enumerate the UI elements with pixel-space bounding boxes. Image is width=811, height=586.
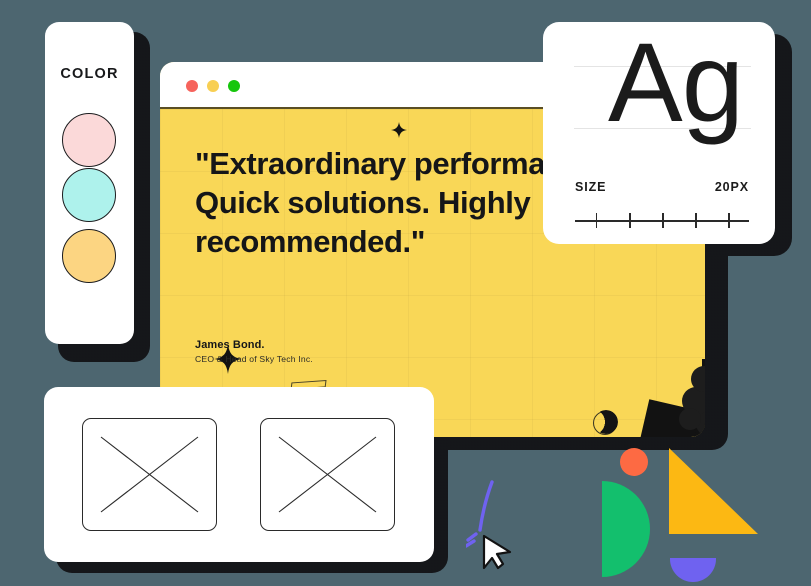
ruler-tick [596, 213, 598, 228]
pink-swatch[interactable] [62, 113, 116, 167]
cursor-arrow-icon [466, 478, 526, 570]
yellow-triangle-shape [669, 448, 758, 534]
font-specimen: Ag [608, 27, 743, 139]
sparkle-icon [391, 122, 407, 138]
color-palette-card: COLOR [45, 22, 134, 344]
author-name: James Bond. [195, 339, 313, 351]
green-semicircle-shape [602, 481, 650, 577]
image-placeholder-1[interactable] [82, 418, 217, 531]
cyan-swatch[interactable] [62, 168, 116, 222]
size-row: SIZE 20PX [575, 180, 749, 194]
wireframe-card [44, 387, 434, 562]
ruler-tick [629, 213, 631, 228]
minimize-dot[interactable] [207, 80, 219, 92]
portrait-collage [630, 359, 705, 437]
portrait-photo [670, 361, 705, 437]
purple-semicircle-shape [670, 558, 716, 582]
image-placeholder-2[interactable] [260, 418, 395, 531]
orange-circle-shape [620, 448, 648, 476]
crescent-moon-icon [593, 411, 617, 435]
ruler-tick [695, 213, 697, 228]
testimonial-author: James Bond. CEO & Head of Sky Tech Inc. [195, 339, 313, 364]
decorative-shapes-group [466, 440, 806, 586]
amber-swatch[interactable] [62, 229, 116, 283]
typography-card: Ag SIZE 20PX [543, 22, 775, 244]
close-dot[interactable] [186, 80, 198, 92]
size-label: SIZE [575, 180, 606, 194]
ruler-tick [662, 213, 664, 228]
size-value: 20PX [715, 180, 749, 194]
maximize-dot[interactable] [228, 80, 240, 92]
specimen-area: Ag [574, 38, 751, 151]
author-role: CEO & Head of Sky Tech Inc. [195, 354, 313, 364]
color-card-title: COLOR [45, 66, 134, 82]
canvas-stage: COLOR L "Extraordinary performa [0, 0, 811, 586]
size-slider-ruler[interactable] [575, 212, 749, 228]
ruler-tick [728, 213, 730, 228]
